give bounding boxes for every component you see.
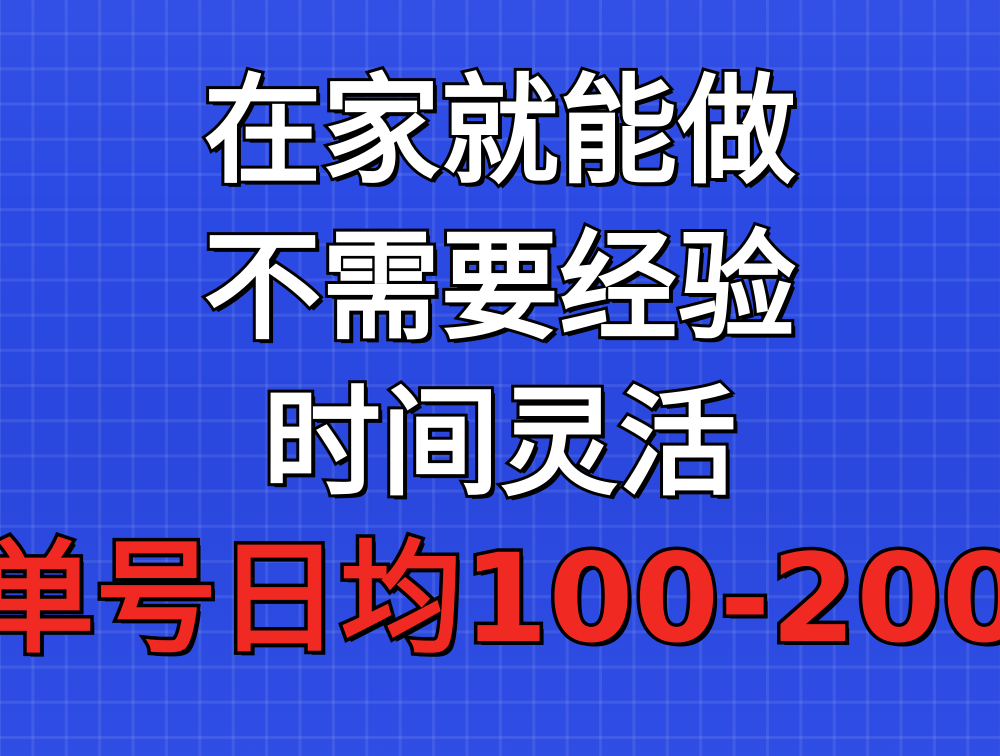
promo-poster: 在家就能做 不需要经验 时间灵活 单号日均100-200	[0, 0, 1000, 756]
headline-line-1: 在家就能做	[204, 72, 797, 190]
headline-text-stack: 在家就能做 不需要经验 时间灵活 单号日均100-200	[0, 0, 1000, 756]
headline-line-3: 时间灵活	[263, 384, 737, 502]
headline-line-2: 不需要经验	[204, 228, 797, 346]
headline-earnings-line: 单号日均100-200	[0, 538, 1000, 660]
